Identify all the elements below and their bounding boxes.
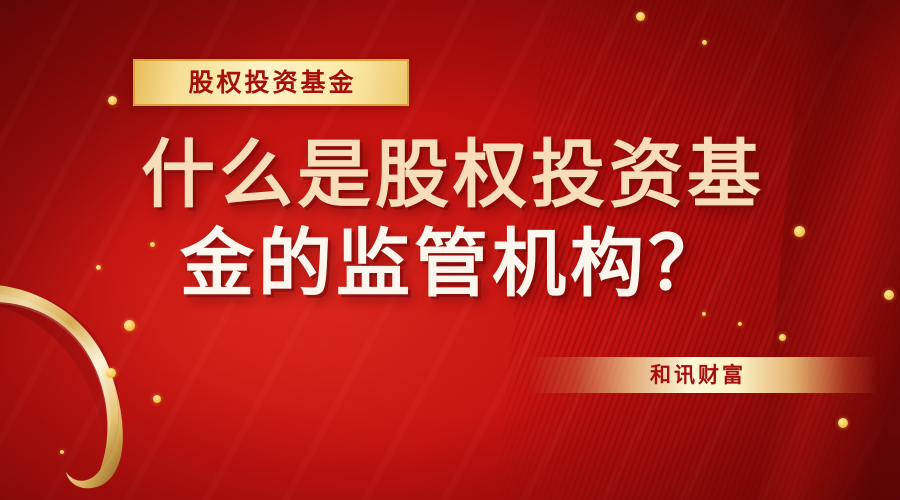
category-badge-label: 股权投资基金	[185, 70, 356, 95]
poster-canvas: 股权投资基金 什么是股权投资基 金的监管机构？ 和讯财富	[0, 0, 900, 500]
brand-bar: 和讯财富	[527, 357, 878, 393]
brand-bar-label: 和讯财富	[647, 365, 746, 386]
headline: 什么是股权投资基 金的监管机构？	[0, 138, 900, 301]
category-badge: 股权投资基金	[133, 59, 409, 106]
headline-line-2: 金的监管机构？	[0, 227, 900, 301]
headline-line-1: 什么是股权投资基	[0, 138, 900, 212]
